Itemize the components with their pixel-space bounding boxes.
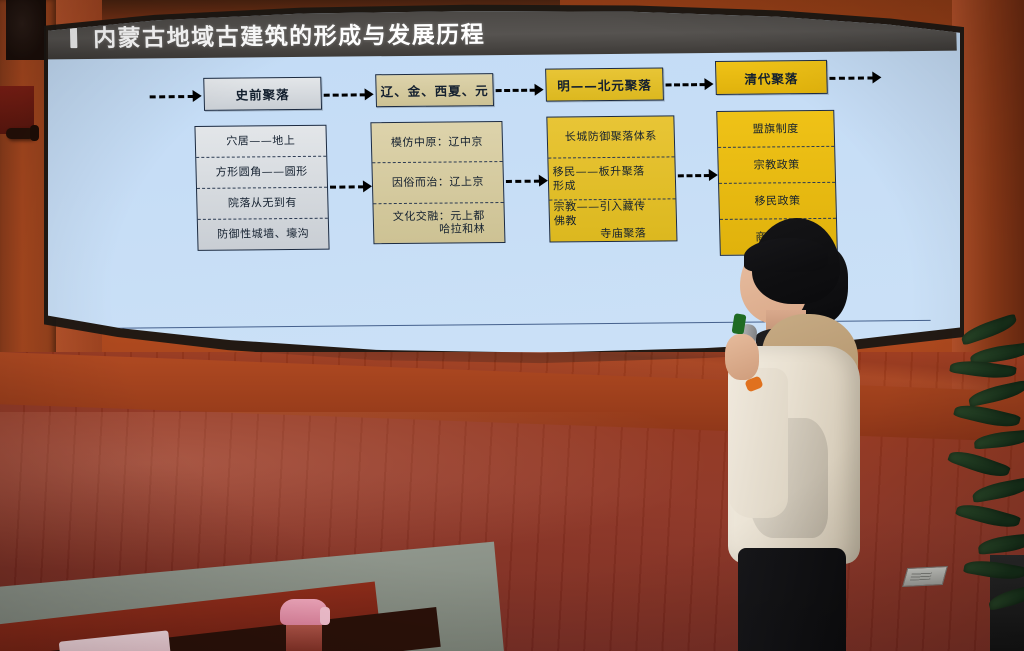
arrow-head — [365, 88, 374, 100]
detail-row: 盟旗制度 — [717, 111, 834, 148]
arrow-line — [665, 83, 705, 86]
detail-row: 文化交融：元上都 哈拉和林 — [373, 203, 504, 244]
detail-row-main: 文化交融：元上都 — [393, 209, 485, 223]
plant-leaf — [953, 400, 1021, 431]
arrow-line — [324, 93, 366, 96]
bottle-body — [286, 621, 322, 651]
detail-row: 模仿中原：辽中京 — [371, 122, 502, 164]
arrow-head — [709, 169, 718, 181]
detail-row-sub: 哈拉和林 — [393, 222, 485, 237]
plant-leaf — [973, 430, 1024, 450]
timeline-node-0[interactable]: 史前聚落 — [203, 77, 322, 111]
presenter-fringe — [744, 238, 828, 272]
bottle-clip — [320, 607, 330, 625]
timeline-node-3[interactable]: 清代聚落 — [715, 60, 828, 95]
arrow-head — [539, 175, 548, 187]
detail-row: 防御性城墙、壕沟 — [198, 219, 329, 250]
presenter-hand — [725, 334, 759, 380]
plant-leaf — [949, 357, 1016, 381]
plant-leaf — [959, 313, 1019, 345]
arrow-line — [150, 94, 194, 97]
arrow-head — [704, 78, 713, 90]
wall-object-red — [0, 86, 34, 134]
detail-row: 长城防御聚落体系 — [547, 116, 674, 159]
plant-leaf — [947, 446, 1011, 482]
timeline-node-2-label: 明——北元聚落 — [557, 75, 652, 95]
detail-row-sub2: 形成 — [553, 179, 576, 192]
timeline-node-3-label: 清代聚落 — [744, 68, 799, 88]
detail-row: 院落从无到有 — [197, 188, 328, 220]
presenter-trousers — [738, 548, 846, 651]
arrow-head — [872, 71, 881, 83]
floor-outlet-plate — [902, 566, 948, 587]
detail-column-1[interactable]: 模仿中原：辽中京 因俗而治：辽上京 文化交融：元上都 哈拉和林 — [370, 121, 505, 244]
detail-column-0[interactable]: 穴居——地上 方形圆角——圆形 院落从无到有 防御性城墙、壕沟 — [194, 125, 329, 251]
plant-leaf — [977, 533, 1024, 555]
presenter — [700, 218, 885, 651]
arrow-line — [330, 185, 364, 188]
detail-row: 宗教——引入藏传 佛教 寺庙聚落 — [549, 199, 676, 241]
arrow-line — [829, 76, 873, 79]
plant-leaf — [963, 557, 1024, 584]
timeline-node-2[interactable]: 明——北元聚落 — [545, 67, 664, 101]
detail-column-2[interactable]: 长城防御聚落体系 移民——板升聚落 形成 宗教——引入藏传 佛教 寺庙聚 — [546, 115, 677, 242]
detail-row: 移民政策 — [719, 183, 836, 220]
photo-scene: 内蒙古地域古建筑的形成与发展历程 史前聚落 — [0, 0, 1024, 651]
detail-row-main: 移民——板升聚落 — [553, 164, 645, 178]
arrow-head — [534, 84, 543, 96]
arrow-head — [193, 90, 202, 102]
timeline-node-1[interactable]: 辽、金、西夏、元 — [375, 73, 494, 107]
timeline-node-1-label: 辽、金、西夏、元 — [380, 80, 489, 100]
detail-row-main: 宗教——引入藏传 — [553, 199, 645, 213]
arrow-line — [678, 174, 710, 177]
arrow-line — [496, 88, 536, 91]
detail-row-sub: 寺庙聚落 — [554, 227, 646, 242]
detail-row: 因俗而治：辽上京 — [372, 162, 503, 204]
pink-water-bottle — [278, 599, 330, 651]
detail-row-sub2: 佛教 — [554, 214, 577, 227]
timeline-node-0-label: 史前聚落 — [235, 84, 290, 104]
plant-leaf — [971, 477, 1024, 503]
arrow-line — [506, 179, 540, 182]
detail-row: 宗教政策 — [718, 147, 835, 184]
presenter-arm — [728, 368, 788, 518]
door-handle-icon[interactable] — [6, 128, 34, 139]
potted-plant — [944, 300, 1024, 630]
arrow-head — [363, 180, 372, 192]
detail-row: 穴居——地上 — [195, 126, 326, 158]
detail-row: 方形圆角——圆形 — [196, 157, 327, 189]
detail-row: 移民——板升聚落 形成 — [548, 158, 675, 201]
slide-title: 内蒙古地域古建筑的形成与发展历程 — [93, 15, 486, 53]
plant-leaf — [967, 380, 1024, 407]
plant-leaf — [987, 584, 1024, 611]
plant-leaf — [955, 499, 1021, 532]
wall-object-dark — [6, 0, 46, 60]
